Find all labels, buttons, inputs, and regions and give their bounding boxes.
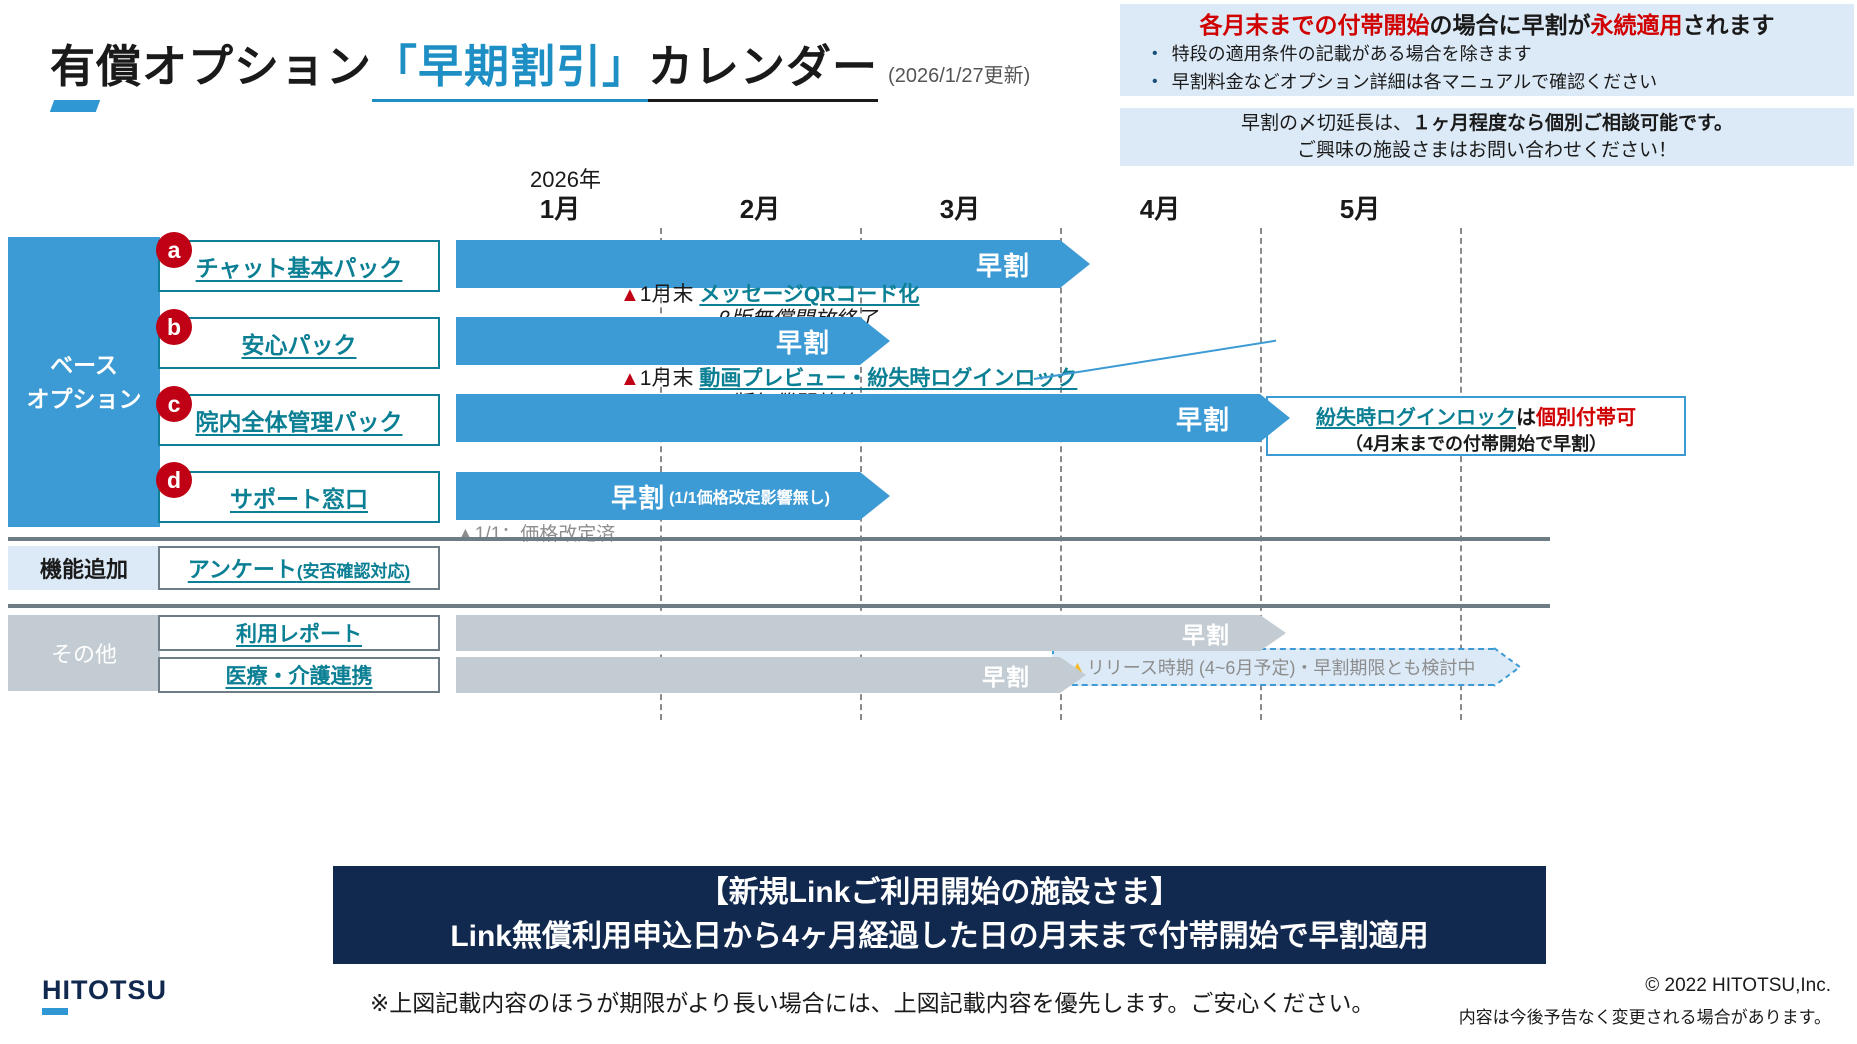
gantt-bar-arrow-tip-usage-report [1260,615,1286,651]
gantt-bar-label: 早割 [982,658,1030,692]
month-label-2: 2月 [740,189,780,226]
banner-line-2: Link無償利用申込日から4ヶ月経過した日の月末まで付帯開始で早割適用 [450,915,1428,959]
row-label-text: アンケート(安否確認対応) [188,552,410,584]
row-badge-a: a [156,232,192,268]
row-label-text: 院内全体管理パック [196,403,403,437]
logo-accent-bar [42,1008,68,1015]
info-heading-red-2: 永続適用 [1591,12,1683,38]
category-base-line-1: ベース [50,348,118,382]
category-function-add: 機能追加 [8,546,160,590]
info-secondary-text-b: １ヶ月程度なら個別ご相談可能です。 [1412,113,1733,134]
row-name-support-desk[interactable]: サポート窓口 [158,471,440,523]
info-heading-red-1: 各月末までの付帯開始 [1200,12,1430,38]
annotation-row-d: ▲1/1：価格改定済 [456,519,615,546]
gantt-bar-sublabel: (1/1価格改定影響無し) [669,484,830,508]
category-base-line-2: オプション [27,382,142,416]
gantt-bar-medical-care-link: 早割 [456,657,1060,693]
title-part-1: 有償オプション [50,30,372,95]
title-accent-bar [50,100,100,112]
info-heading-black-1: の場合に早割が [1430,12,1591,38]
row-label-text: サポート窓口 [230,480,368,514]
gantt-bar-survey-tentative: ▲リリース時期 (4~6月予定)・早割期限とも検討中 [1052,648,1494,686]
gantt-bar-arrow-tip-b [860,317,890,365]
row-name-usage-report[interactable]: 利用レポート [158,615,440,651]
info-box-primary: 各月末までの付帯開始の場合に早割が永続適用されます • 特段の適用条件の記載があ… [1120,4,1854,96]
callout-leader-line [1034,340,1276,380]
annotation-b-date: 1月末 [640,367,694,390]
row-label-text: チャット基本パック [196,249,403,283]
gantt-bar-survey-arrow-outline [1493,647,1521,687]
gantt-bar-usage-report: 早割 [456,615,1260,651]
gantt-bar-label: 早割 [776,323,830,360]
survey-bar-text: ▲リリース時期 (4~6月予定)・早割期限とも検討中 [1068,654,1475,680]
gantt-bar-clinic-management-pack: 早割 [456,394,1260,442]
banner-footnote: ※上図記載内容のほうが期限がより長い場合には、上図記載内容を優先します。ご安心く… [370,984,1374,1018]
info-box-primary-heading: 各月末までの付帯開始の場合に早割が永続適用されます [1130,10,1844,40]
bottom-banner: 【新規Linkご利用開始の施設さま】 Link無償利用申込日から4ヶ月経過した日… [333,866,1546,964]
month-label-5: 5月 [1340,189,1380,226]
section-divider-1 [8,537,1550,541]
banner-line-1: 【新規Linkご利用開始の施設さま】 [699,871,1181,915]
logo-text: HITOTSU [42,975,167,1006]
row-label-text: 医療・介護連携 [226,660,373,690]
info-bullet-item: • 特段の適用条件の記載がある場合を除きます [1130,40,1844,68]
callout-line-2: （4月末までの付帯開始で早割） [1268,430,1684,456]
row-name-medical-care-link[interactable]: 医療・介護連携 [158,657,440,693]
info-secondary-line-2: ご興味の施設さまはお問い合わせください！ [1297,137,1677,164]
month-label-1: 1月 [540,189,580,226]
info-bullet-text: 特段の適用条件の記載がある場合を除きます [1172,40,1532,68]
row-name-chat-basic-pack[interactable]: チャット基本パック [158,240,440,292]
info-secondary-text-a: 早割の〆切延長は、 [1241,113,1412,134]
month-label-3: 3月 [940,189,980,226]
category-base-option: ベース オプション [8,237,160,527]
month-label-4: 4月 [1140,189,1180,226]
bullet-icon: • [1152,40,1158,68]
row-label-sub: (安否確認対応) [297,562,410,581]
row-badge-c: c [156,386,192,422]
gantt-bar-label: 早割 [611,478,665,515]
title-update-date: (2026/1/27更新) [888,59,1030,88]
category-other: その他 [8,615,160,691]
row-name-anshin-pack[interactable]: 安心パック [158,317,440,369]
gantt-bar-label: 早割 [976,246,1030,283]
callout-link[interactable]: 紛失時ログインロック [1316,407,1516,429]
info-bullet-item: • 早割料金などオプション詳細は各マニュアルで確認ください [1130,68,1844,96]
page-title: 有償オプション 「早期割引」 カレンダー (2026/1/27更新) [50,30,1030,102]
row-label-text: 利用レポート [236,618,362,648]
info-heading-black-2: されます [1683,12,1775,38]
hitotsu-logo: HITOTSU [42,975,167,1015]
callout-red: 個別付帯可 [1536,407,1636,429]
info-secondary-line-1: 早割の〆切延長は、１ヶ月程度なら個別ご相談可能です。 [1241,110,1733,137]
info-bullet-text: 早割料金などオプション詳細は各マニュアルで確認ください [1172,68,1657,96]
gantt-bar-label: 早割 [1182,616,1230,650]
title-part-2: 「早期割引」 [372,30,648,102]
copyright-line-2: 内容は今後予告なく変更される場合があります。 [1459,1003,1831,1028]
red-triangle-icon: ▲ [620,284,640,306]
callout-loginlock: 紛失時ログインロックは個別付帯可 （4月末までの付帯開始で早割） [1266,396,1686,456]
gridline-may-end [1460,228,1462,720]
title-part-3: カレンダー [648,30,878,102]
copyright-line-1: © 2022 HITOTSU,Inc. [1459,975,1831,997]
callout-line-1: 紛失時ログインロックは個別付帯可 [1268,401,1684,430]
survey-bar-label: リリース時期 (4~6月予定)・早割期限とも検討中 [1087,658,1476,678]
gantt-bar-anshin-pack: 早割 [456,317,860,365]
red-triangle-icon: ▲ [620,368,640,390]
gantt-bar-arrow-tip-a [1060,240,1090,288]
gantt-bar-arrow-tip-d [860,472,890,520]
callout-mid: は [1516,407,1536,429]
row-name-survey[interactable]: アンケート(安否確認対応) [158,546,440,590]
row-name-clinic-management-pack[interactable]: 院内全体管理パック [158,394,440,446]
row-label-main: アンケート [188,557,297,582]
bullet-icon: • [1152,68,1158,96]
info-box-secondary: 早割の〆切延長は、１ヶ月程度なら個別ご相談可能です。 ご興味の施設さまはお問い合… [1120,108,1854,166]
copyright-block: © 2022 HITOTSU,Inc. 内容は今後予告なく変更される場合がありま… [1459,975,1831,1028]
row-badge-d: d [156,462,192,498]
gantt-bar-arrow-tip-medical-care-link [1060,657,1086,693]
section-divider-2 [8,604,1550,608]
row-badge-b: b [156,309,192,345]
gantt-bar-support-desk: 早割 (1/1価格改定影響無し) [456,472,860,520]
annotation-a-date: 1月末 [640,283,694,306]
slide-root: 有償オプション 「早期割引」 カレンダー (2026/1/27更新) 各月末まで… [0,0,1857,1044]
gantt-bar-arrow-tip-c [1260,394,1290,442]
row-label-text: 安心パック [242,326,357,360]
gantt-bar-label: 早割 [1176,400,1230,437]
